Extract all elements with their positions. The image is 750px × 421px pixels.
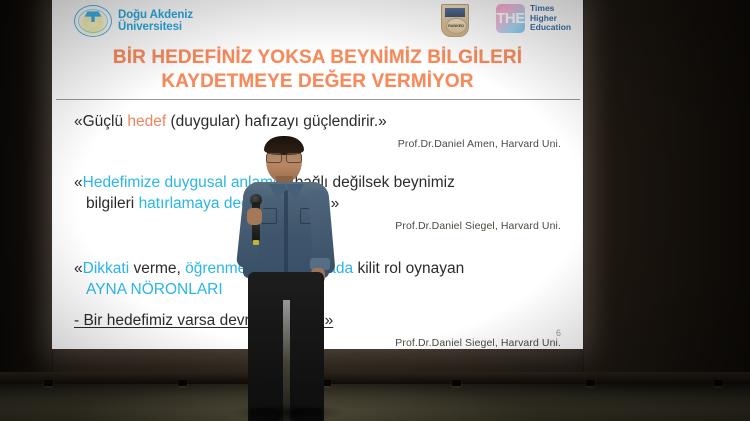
the-mark-icon: THE <box>496 4 525 33</box>
floor-light-fixture <box>714 380 723 386</box>
university-name-line1: Doğu Akdeniz <box>118 9 193 22</box>
shirt-placket <box>284 190 288 276</box>
wall-right-panel <box>583 0 750 381</box>
the-wordmark: Times Higher Education <box>530 4 571 33</box>
quote-1-open: «Güçlü <box>74 113 127 130</box>
floor-light-fixture <box>44 380 53 386</box>
quote-2-open: « <box>74 174 83 191</box>
ranked-badge-label: RANKED <box>446 18 467 34</box>
slide-number: 6 <box>556 328 561 338</box>
slide-title: BİR HEDEFİNİZ YOKSA BEYNİMİZ BİLGİLERİ K… <box>60 46 575 94</box>
quote-3-mid: verme, <box>129 260 185 277</box>
ranked-shield-shape: RANKED <box>441 4 469 37</box>
presenter-leg-gap <box>283 300 290 421</box>
floor-light-fixture <box>178 380 187 386</box>
quote-1-highlight: hedef <box>127 113 166 130</box>
ranked-badge-top <box>445 8 465 17</box>
presentation-photo: Doğu Akdeniz Üniversitesi RANKED THE Tim… <box>0 0 750 421</box>
microphone-tip <box>253 240 259 245</box>
the-line3: Education <box>530 23 571 33</box>
quote-1-rest: (duygular) hafızayı güçlendirir.» <box>166 113 387 130</box>
quote-3-open: « <box>74 260 83 277</box>
wall-left-panel <box>0 0 52 381</box>
slide-header: Doğu Akdeniz Üniversitesi RANKED THE Tim… <box>52 0 583 99</box>
wall-seam-right <box>583 0 584 381</box>
times-higher-education-logo: THE Times Higher Education <box>496 4 571 33</box>
floor-light-fixture <box>452 380 461 386</box>
floor-light-fixture <box>586 380 595 386</box>
quote-3-line1-rest: kilit rol oynayan <box>353 260 464 277</box>
presenter-floor-shadow <box>232 404 344 421</box>
quote-3-highlight-a: Dikkati <box>83 260 130 277</box>
university-name-line2: Üniversitesi <box>118 21 193 34</box>
quote-2-line2-open: bilgileri <box>86 195 139 212</box>
stage-floor <box>0 384 750 421</box>
glasses-icon <box>266 153 302 161</box>
presenter-hand-left <box>247 208 262 225</box>
university-name: Doğu Akdeniz Üniversitesi <box>118 9 193 34</box>
quote-1: «Güçlü hedef (duygular) hafızayı güçlend… <box>52 111 583 132</box>
university-emblem-icon <box>74 5 112 37</box>
quote-1-attribution: Prof.Dr.Daniel Amen, Harvard Uni. <box>52 138 583 150</box>
university-logo: Doğu Akdeniz Üniversitesi <box>74 5 193 37</box>
ranked-shield-icon: RANKED <box>441 4 467 35</box>
header-divider <box>56 99 580 100</box>
